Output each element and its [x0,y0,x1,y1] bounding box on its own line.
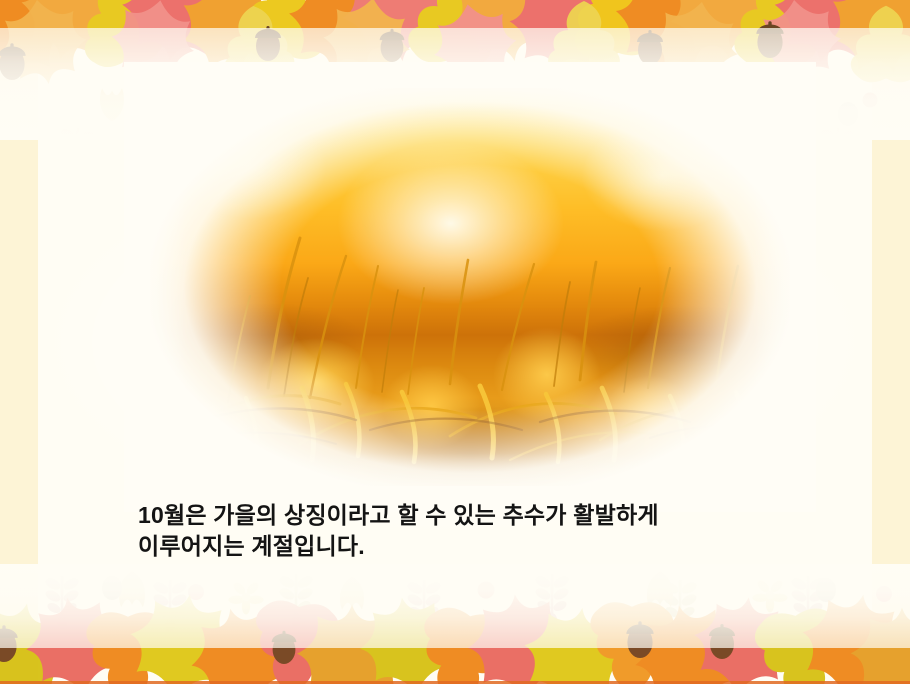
bottom-border-artwork [0,564,910,684]
caption-text: 10월은 가을의 상징이라고 할 수 있는 추수가 활발하게 이루어지는 계절입… [138,500,798,563]
harvest-photo [150,88,790,486]
autumn-leaves-bottom-border [0,564,910,684]
rice-stalk-overlay [150,88,790,486]
rice-stalk-artwork [150,88,790,486]
slide-canvas: 10월은 가을의 상징이라고 할 수 있는 추수가 활발하게 이루어지는 계절입… [0,0,910,684]
